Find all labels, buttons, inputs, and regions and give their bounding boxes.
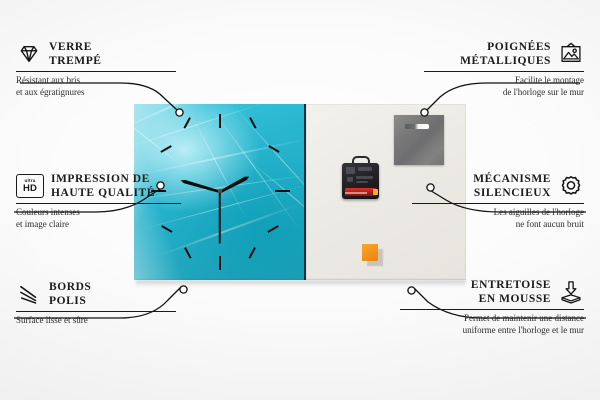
feature-mecanisme-silencieux: MÉCANISME SILENCIEUX Les aiguilles de l'… — [412, 172, 584, 230]
feature-title: ENTRETOISE EN MOUSSE — [471, 278, 551, 306]
battery-terminal — [373, 189, 378, 195]
diamond-icon — [16, 41, 42, 67]
feature-description: Surface lisse et sûre — [16, 315, 176, 327]
feature-title: VERRE TREMPÉ — [49, 40, 102, 68]
gear-icon — [558, 173, 584, 199]
feature-description: Résistant aux bris et aux égratignures — [16, 75, 176, 98]
foam-spacer — [362, 244, 378, 261]
hanger-slot — [405, 124, 429, 129]
divider — [16, 203, 181, 204]
feature-title: IMPRESSION DE HAUTE QUALITÉ — [51, 172, 155, 200]
clock-tick — [267, 225, 278, 232]
clock-tick — [160, 145, 171, 152]
feature-impression-haute-qualite: ultra HD IMPRESSION DE HAUTE QUALITÉ Cou… — [16, 172, 181, 230]
picture-frame-hanger-icon — [558, 41, 584, 67]
feature-title: POIGNÉES MÉTALLIQUES — [460, 40, 551, 68]
clock-tick — [219, 114, 221, 128]
feature-title: MÉCANISME SILENCIEUX — [473, 172, 551, 200]
feature-entretoise-en-mousse: ENTRETOISE EN MOUSSE Permet de maintenir… — [400, 278, 584, 336]
battery-label — [345, 192, 367, 194]
clock-tick — [275, 190, 290, 192]
feature-verre-trempe: VERRE TREMPÉ Résistant aux bris et aux é… — [16, 40, 176, 98]
metal-hanger-plate — [394, 115, 444, 165]
divider — [16, 311, 176, 312]
clock-movement — [342, 163, 379, 199]
divider — [412, 203, 584, 204]
ultra-hd-badge-icon: ultra HD — [16, 174, 44, 198]
clock-tick — [248, 247, 255, 258]
infographic-canvas: VERRE TREMPÉ Résistant aux bris et aux é… — [0, 0, 600, 400]
divider — [400, 309, 584, 310]
clock-tick — [184, 247, 191, 258]
clock-hand-cap — [218, 189, 222, 193]
divider — [424, 71, 584, 72]
clock-tick — [219, 256, 221, 270]
polished-edges-icon — [16, 281, 42, 307]
feature-description: Permet de maintenir une distance uniform… — [400, 313, 584, 336]
divider — [16, 71, 176, 72]
feature-description: Les aiguilles de l'horloge ne font aucun… — [412, 207, 584, 230]
clock-second-hand — [219, 192, 221, 244]
feature-bords-polis: BORDS POLIS Surface lisse et sûre — [16, 280, 176, 327]
foam-spacer-icon — [558, 279, 584, 305]
feature-description: Facilite le montage de l'horloge sur le … — [424, 75, 584, 98]
feature-poignees-metalliques: POIGNÉES MÉTALLIQUES Facilite le montage… — [424, 40, 584, 98]
feature-description: Couleurs intenses et image claire — [16, 207, 181, 230]
ultra-hd-badge-main-label: HD — [23, 184, 37, 194]
feature-title: BORDS POLIS — [49, 280, 91, 308]
